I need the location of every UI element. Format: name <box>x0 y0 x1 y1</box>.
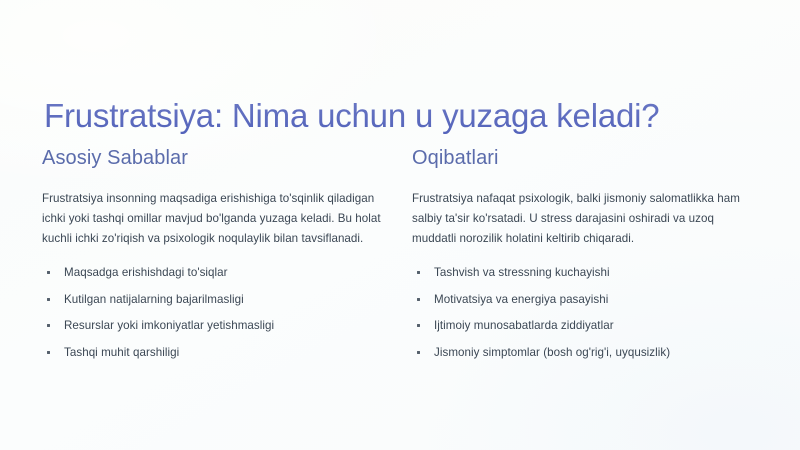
column-paragraph-left: Frustratsiya insonning maqsadiga erishis… <box>42 189 390 249</box>
bullet-marker-icon <box>47 298 50 301</box>
bullet-marker-icon <box>417 324 420 327</box>
list-item-label: Jismoniy simptomlar (bosh og'rig'i, uyqu… <box>434 346 670 359</box>
list-item-label: Tashqi muhit qarshiligi <box>64 346 179 359</box>
slide-canvas: Frustratsiya: Nima uchun u yuzaga keladi… <box>0 0 800 450</box>
list-item-label: Motivatsiya va energiya pasayishi <box>434 293 608 306</box>
list-item: Ijtimoiy munosabatlarda ziddiyatlar <box>412 318 760 334</box>
slide-title: Frustratsiya: Nima uchun u yuzaga keladi… <box>44 96 659 136</box>
column-oqibatlari: Oqibatlari Frustratsiya nafaqat psixolog… <box>412 146 760 372</box>
column-asosiy-sabablar: Asosiy Sabablar Frustratsiya insonning m… <box>42 146 390 372</box>
bullet-list-left: Maqsadga erishishdagi to'siqlar Kutilgan… <box>42 265 390 361</box>
bullet-marker-icon <box>417 351 420 354</box>
column-heading-left: Asosiy Sabablar <box>42 146 390 171</box>
list-item-label: Ijtimoiy munosabatlarda ziddiyatlar <box>434 319 614 332</box>
bullet-marker-icon <box>47 324 50 327</box>
list-item-label: Maqsadga erishishdagi to'siqlar <box>64 266 228 279</box>
bullet-list-right: Tashvish va stressning kuchayishi Motiva… <box>412 265 760 361</box>
list-item: Jismoniy simptomlar (bosh og'rig'i, uyqu… <box>412 345 760 361</box>
list-item: Motivatsiya va energiya pasayishi <box>412 292 760 308</box>
column-heading-right: Oqibatlari <box>412 146 760 171</box>
list-item-label: Resurslar yoki imkoniyatlar yetishmaslig… <box>64 319 274 332</box>
column-paragraph-right: Frustratsiya nafaqat psixologik, balki j… <box>412 189 760 249</box>
list-item: Tashvish va stressning kuchayishi <box>412 265 760 281</box>
list-item-label: Kutilgan natijalarning bajarilmasligi <box>64 293 244 306</box>
bullet-marker-icon <box>417 271 420 274</box>
bullet-marker-icon <box>47 271 50 274</box>
list-item: Resurslar yoki imkoniyatlar yetishmaslig… <box>42 318 390 334</box>
bullet-marker-icon <box>47 351 50 354</box>
list-item: Tashqi muhit qarshiligi <box>42 345 390 361</box>
bullet-marker-icon <box>417 298 420 301</box>
list-item: Maqsadga erishishdagi to'siqlar <box>42 265 390 281</box>
list-item: Kutilgan natijalarning bajarilmasligi <box>42 292 390 308</box>
list-item-label: Tashvish va stressning kuchayishi <box>434 266 610 279</box>
